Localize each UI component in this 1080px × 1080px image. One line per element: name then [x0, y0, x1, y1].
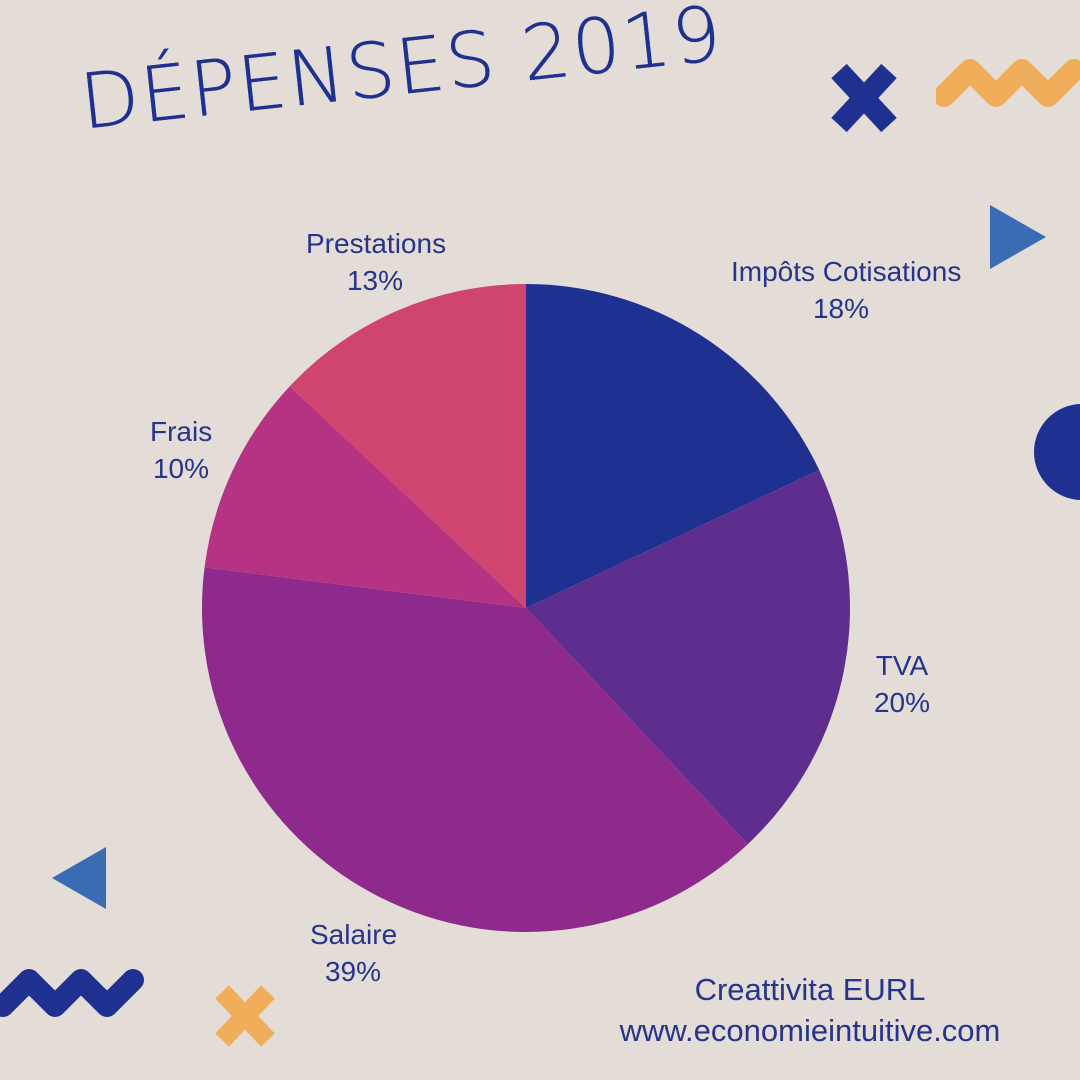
pie-label-impots-name: Impôts Cotisations: [731, 254, 951, 291]
pie-label-salaire-value: 39%: [310, 954, 396, 991]
pie-label-prestations-value: 13%: [306, 263, 444, 300]
pie-label-frais: Frais 10%: [150, 414, 212, 488]
blue-triangle-right-icon: [988, 203, 1048, 271]
pie-label-tva-name: TVA: [873, 648, 931, 685]
pie-label-frais-name: Frais: [150, 414, 212, 451]
pie-label-tva: TVA 20%: [873, 648, 931, 722]
poster-canvas: DÉPENSES 2019 Prestatio: [0, 0, 1080, 1080]
pie-label-prestations-name: Prestations: [306, 226, 444, 263]
pie-label-frais-value: 10%: [150, 451, 212, 488]
footer-website[interactable]: www.economieintuitive.com: [560, 1011, 1060, 1052]
page-title: DÉPENSES 2019: [76, 0, 727, 146]
footer: Creattivita EURL www.economieintuitive.c…: [560, 970, 1060, 1052]
footer-company: Creattivita EURL: [560, 970, 1060, 1011]
blue-triangle-left-icon: [50, 845, 108, 911]
pie-label-salaire: Salaire 39%: [310, 917, 396, 991]
pie-label-tva-value: 20%: [873, 685, 931, 722]
pie-chart: [201, 283, 851, 933]
pie-label-prestations: Prestations 13%: [306, 226, 444, 300]
pie-label-salaire-name: Salaire: [310, 917, 396, 954]
navy-circle-right-icon: [1034, 404, 1080, 500]
orange-zigzag-top-icon: [936, 58, 1080, 110]
navy-zigzag-bottom-icon: [0, 968, 145, 1020]
pie-label-impots-value: 18%: [731, 291, 951, 328]
navy-cross-top-icon: [828, 60, 900, 136]
orange-cross-bottom-icon: [212, 982, 278, 1050]
pie-label-impots: Impôts Cotisations 18%: [731, 254, 951, 328]
pie-chart-svg: [201, 283, 851, 933]
